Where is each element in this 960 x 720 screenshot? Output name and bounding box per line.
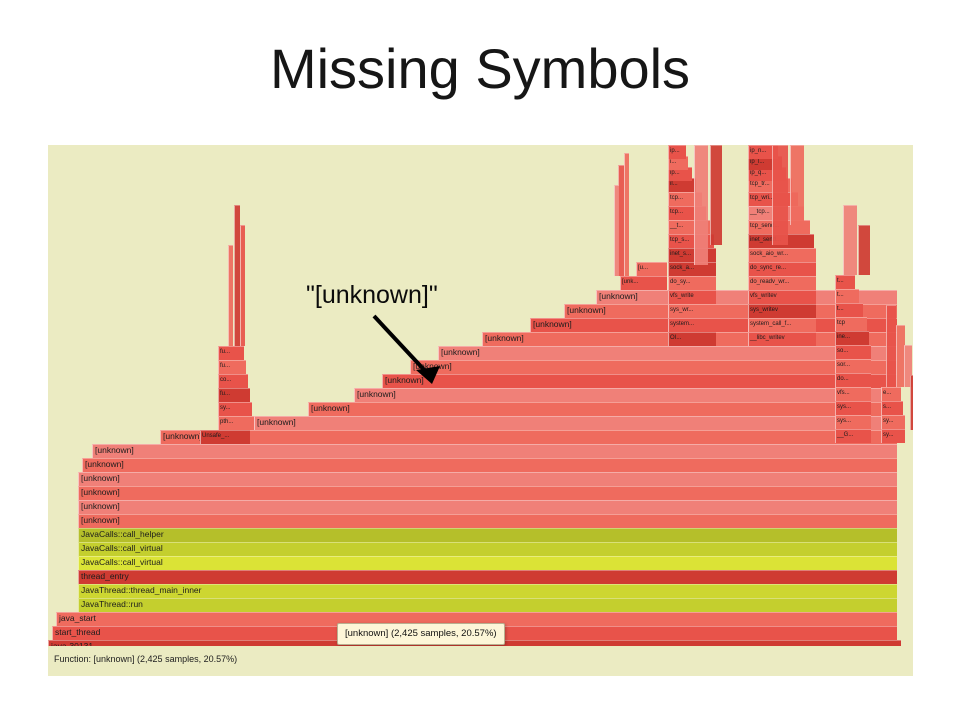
flamegraph-frame[interactable]: [unknown] (254, 416, 897, 430)
flamegraph-frame[interactable]: sock_aio_wr... (748, 248, 816, 262)
flamegraph-frame[interactable]: do_sync_re... (748, 262, 816, 276)
flamegraph-canvas[interactable]: alljava-30131start_threadjava_startJavaT… (48, 145, 913, 676)
flamegraph-frame[interactable]: ine... (835, 331, 869, 345)
flamegraph-frame[interactable]: __G... (835, 429, 871, 443)
flamegraph-frame[interactable]: [unknown] (308, 402, 897, 416)
flamegraph-frame[interactable]: [unknown] (78, 486, 897, 500)
flamegraph-frame[interactable]: sys... (835, 401, 871, 415)
flamegraph-tooltip: [unknown] (2,425 samples, 20.57%) (337, 623, 505, 645)
flamegraph-frame[interactable]: sy... (218, 402, 252, 416)
flamegraph-frame[interactable]: do_readv_wr... (748, 276, 816, 290)
flamegraph-frame[interactable]: ip... (668, 145, 686, 159)
flamegraph-frame[interactable]: [unknown] (410, 360, 897, 374)
flamegraph-frame[interactable]: thread_entry (78, 570, 897, 584)
flamegraph-frame[interactable]: pth... (218, 416, 254, 430)
flamegraph-frame[interactable]: fu... (218, 360, 246, 374)
flamegraph-frame[interactable]: do_sy... (668, 276, 716, 290)
flamegraph-frame[interactable]: [unknown] (82, 458, 897, 472)
flamegraph-frame[interactable]: __libc_writev (748, 332, 816, 346)
flamegraph-frame[interactable]: Unsafe_... (200, 430, 250, 444)
flamegraph-frame[interactable]: so... (835, 345, 871, 359)
flamegraph-frame[interactable]: t... (835, 303, 863, 317)
flamegraph-frame[interactable]: vfs_write (668, 290, 716, 304)
flamegraph-frame[interactable]: JavaCalls::call_helper (78, 528, 897, 542)
flamegraph-frame[interactable]: vfs_writev (748, 290, 816, 304)
flamegraph-frame[interactable]: sys_writev (748, 304, 816, 318)
flamegraph-status-footer: Function: [unknown] (2,425 samples, 20.5… (48, 646, 913, 676)
arrow-down-right-icon (370, 312, 450, 392)
flamegraph-frame[interactable]: sys_wr... (668, 304, 716, 318)
flamegraph-frame[interactable]: [unknown] (78, 514, 897, 528)
flamegraph-frame[interactable]: fu... (218, 388, 250, 402)
flamegraph-frame[interactable]: [u... (636, 262, 667, 276)
flamegraph-frame[interactable]: sys... (835, 415, 871, 429)
flamegraph-frame[interactable]: sock_a... (668, 262, 716, 276)
annotation-label: "[unknown]" (306, 281, 438, 310)
flamegraph-frame[interactable]: vfs... (835, 387, 871, 401)
flamegraph-frame[interactable]: [unknown] (92, 444, 897, 458)
flamegraph-frame[interactable]: [unknown] (78, 500, 897, 514)
flamegraph-frame[interactable] (910, 375, 913, 430)
slide: Missing Symbols alljava-30131start_threa… (0, 0, 960, 720)
page-title: Missing Symbols (0, 38, 960, 100)
flamegraph-frame[interactable]: [unknown] (382, 374, 897, 388)
flamegraph-frame[interactable]: [unknown] (78, 472, 897, 486)
flamegraph-frame[interactable]: fu... (218, 346, 244, 360)
flamegraph-frame[interactable] (858, 225, 870, 275)
flamegraph-frame[interactable]: [unknown] (160, 430, 897, 444)
flamegraph-frame[interactable]: tcp (835, 317, 867, 331)
flamegraph-frame[interactable]: co... (218, 374, 248, 388)
flamegraph-frame[interactable]: JavaCalls::call_virtual (78, 556, 897, 570)
flamegraph-frame[interactable]: JavaCalls::call_virtual (78, 542, 897, 556)
flamegraph-frame[interactable]: sy... (881, 429, 905, 443)
flamegraph-frame[interactable]: sy... (881, 415, 905, 429)
flamegraph-frame[interactable] (694, 145, 708, 265)
flamegraph-frame[interactable] (843, 205, 857, 275)
flamegraph-frame[interactable]: t... (835, 275, 855, 289)
flamegraph-frame[interactable]: do... (835, 373, 871, 387)
flamegraph-frame[interactable] (790, 145, 804, 225)
flamegraph-frame[interactable]: [unknown] (438, 346, 897, 360)
flamegraph-frame[interactable]: JavaThread::run (78, 598, 897, 612)
flamegraph-frame[interactable]: inet_s... (668, 248, 716, 262)
flamegraph-frame[interactable]: sor... (835, 359, 871, 373)
flamegraph-frame[interactable] (886, 305, 896, 387)
flamegraph-frame[interactable] (710, 145, 722, 245)
flamegraph-frame[interactable] (772, 145, 788, 245)
flamegraph-frame[interactable] (624, 153, 629, 276)
flamegraph-frame[interactable]: OI... (668, 332, 716, 346)
flamegraph-frame[interactable] (614, 185, 619, 276)
flamegraph-frame[interactable] (240, 225, 245, 346)
flamegraph-frame[interactable]: s... (881, 401, 903, 415)
flamegraph-frame[interactable]: t... (835, 289, 859, 303)
flamegraph-frame[interactable]: JavaThread::thread_main_inner (78, 584, 897, 598)
flamegraph-frame[interactable]: system... (668, 318, 716, 332)
flamegraph-frame[interactable] (228, 245, 233, 346)
flamegraph-frame[interactable]: e... (881, 387, 901, 401)
flamegraph-frame[interactable]: [unk... (620, 276, 667, 290)
flamegraph-frame[interactable]: system_call_f... (748, 318, 816, 332)
